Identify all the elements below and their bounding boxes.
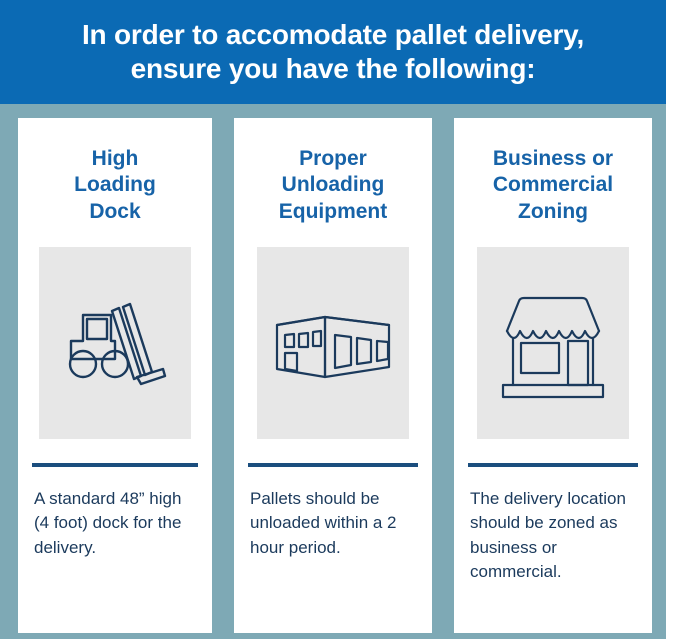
card-divider [468,463,638,467]
card-body-text: A standard 48” high (4 foot) dock for th… [32,487,198,559]
header-banner: In order to accomodate pallet delivery, … [0,0,666,104]
storefront-icon [491,283,615,403]
page-title: In order to accomodate pallet delivery, … [68,18,598,86]
icon-panel [39,247,191,439]
card-heading: Proper Unloading Equipment [279,146,388,225]
card-heading: Business or Commercial Zoning [493,146,613,225]
warehouse-building-icon [269,281,397,405]
icon-panel [257,247,409,439]
requirement-column-high-loading-dock: High Loading Dock [0,104,222,639]
card-divider [32,463,198,467]
card: Proper Unloading Equipment [234,118,432,633]
requirement-column-proper-unloading-equipment: Proper Unloading Equipment [222,104,444,639]
card-heading: High Loading Dock [74,146,156,225]
requirement-column-business-commercial-zoning: Business or Commercial Zoning [444,104,666,639]
forklift-icon [53,281,177,405]
card-body-text: Pallets should be unloaded within a 2 ho… [248,487,418,559]
card: Business or Commercial Zoning [454,118,652,633]
card: High Loading Dock [18,118,212,633]
card-divider [248,463,418,467]
requirements-columns: High Loading Dock [0,104,666,639]
card-body-text: The delivery location should be zoned as… [468,487,638,584]
icon-panel [477,247,629,439]
